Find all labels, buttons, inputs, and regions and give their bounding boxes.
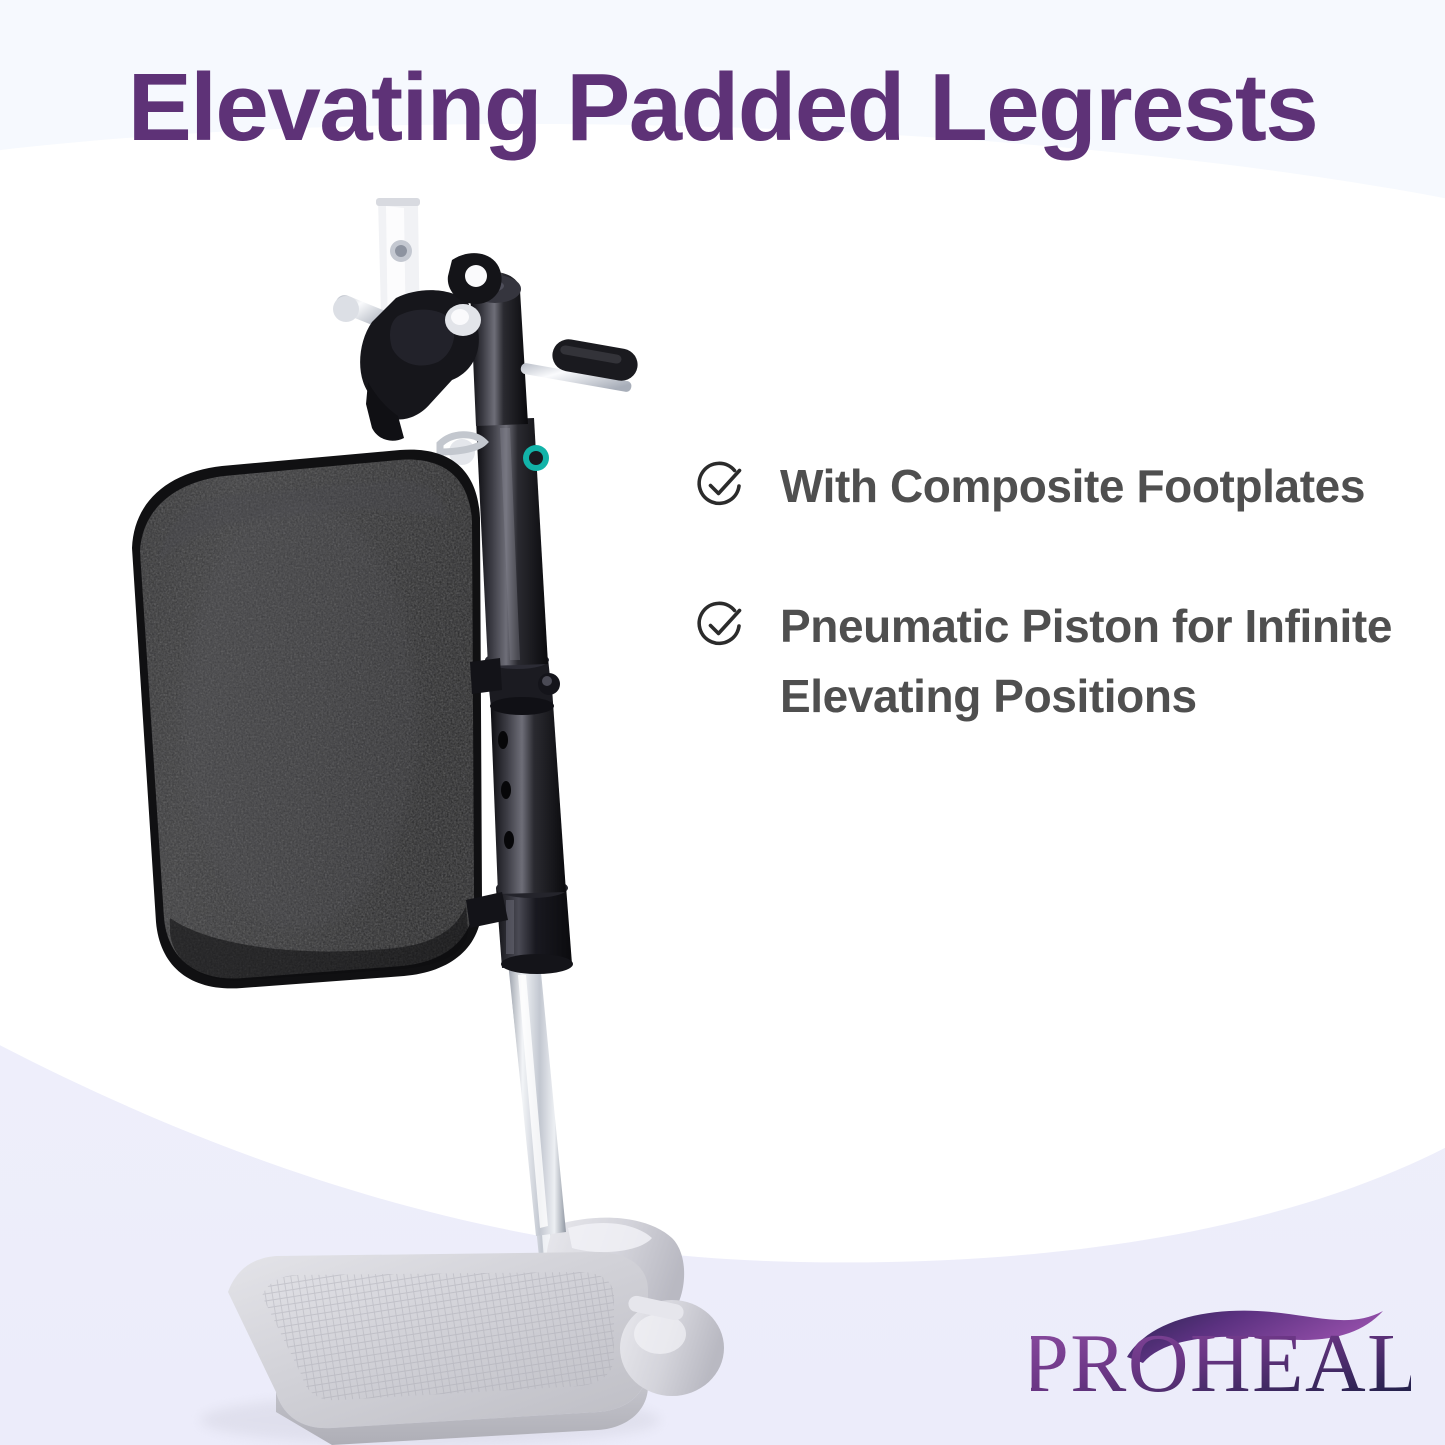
proheal-logo-svg: PROHEAL bbox=[1031, 1287, 1411, 1407]
logo-wordmark: PROHEAL bbox=[1031, 1317, 1411, 1407]
page-title: Elevating Padded Legrests bbox=[0, 58, 1445, 159]
feature-item: Pneumatic Piston for Infinite Elevating … bbox=[694, 592, 1406, 732]
feature-list: With Composite Footplates Pneumatic Pist… bbox=[694, 452, 1406, 732]
brand-logo: PROHEAL bbox=[1031, 1287, 1411, 1407]
check-circle-icon bbox=[694, 460, 746, 512]
feature-label: Pneumatic Piston for Infinite Elevating … bbox=[780, 592, 1406, 732]
feature-label: With Composite Footplates bbox=[780, 452, 1365, 522]
feature-item: With Composite Footplates bbox=[694, 452, 1406, 522]
page-title-container: Elevating Padded Legrests bbox=[0, 58, 1445, 159]
check-circle-icon bbox=[694, 600, 746, 652]
